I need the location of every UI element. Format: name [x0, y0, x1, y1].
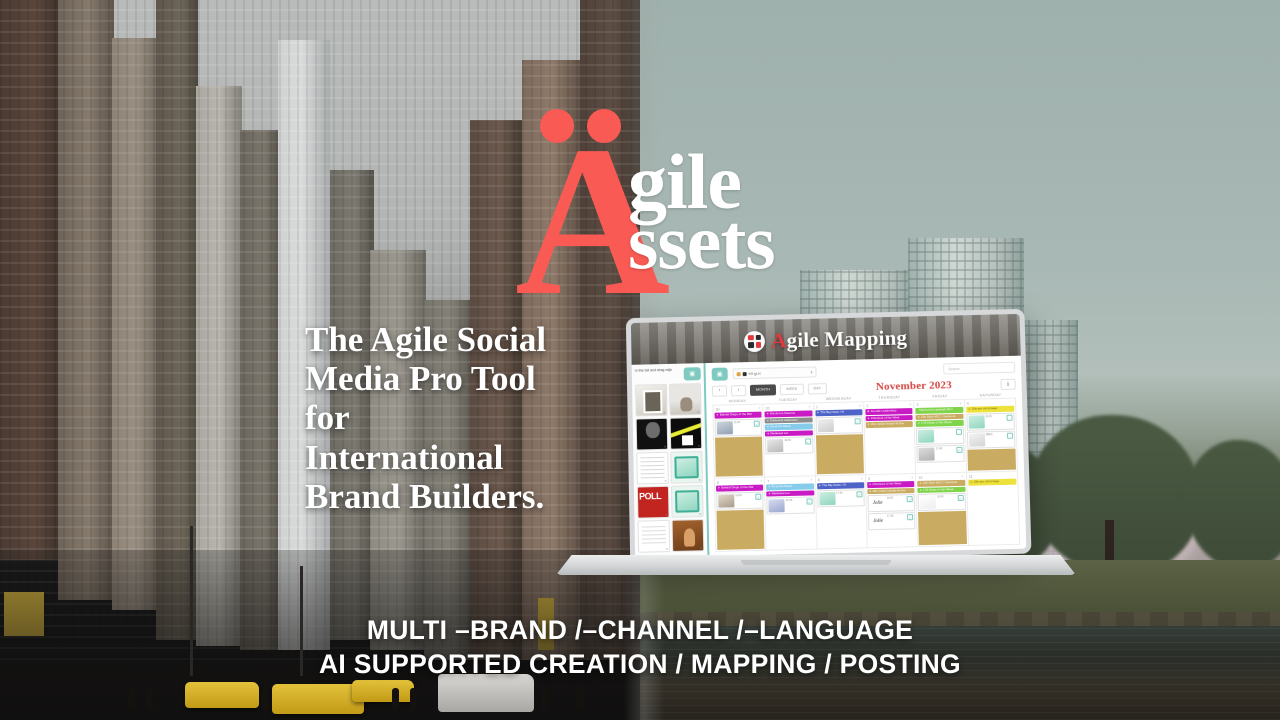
calendar-week-row: 6+●Bahdid Diego of the Mar10:00✓7+●Kit o…	[715, 472, 1019, 551]
post-preview-thumb	[968, 415, 984, 428]
event-type-icon: ●	[717, 413, 719, 419]
add-event-button[interactable]: +	[911, 475, 914, 480]
post-preview-thumb	[717, 421, 733, 434]
event-type-icon: ●	[817, 410, 819, 416]
day-fill-block	[918, 511, 966, 545]
remove-icon[interactable]: ×	[697, 409, 699, 414]
poster-canvas: A gile ssets The Agile Social Media Pro …	[0, 0, 1280, 720]
laptop-screen: Agile Mapping m the list and drag ndje ▣…	[631, 314, 1026, 558]
calendar-day-cell[interactable]: 11⚠20s pro mil lo'nego	[967, 472, 1019, 545]
event-type-icon: ●	[718, 486, 720, 492]
post-approved-checkbox[interactable]: ✓	[956, 446, 962, 452]
calendar-event-chip[interactable]: ⚠20s pro mil lo'nego	[966, 406, 1014, 413]
laptop-base	[556, 555, 1076, 575]
remove-icon[interactable]: ×	[663, 410, 665, 415]
upload-media-button[interactable]: ▣	[684, 367, 701, 380]
scheduled-post-card[interactable]	[916, 426, 964, 444]
remove-icon[interactable]: ×	[664, 444, 666, 449]
calendar-day-cell[interactable]: 31+●Dia de los Muertos●Dantoand Hallowee…	[764, 403, 816, 476]
post-preview-thumb	[817, 418, 833, 431]
event-type-icon: ●	[767, 424, 769, 430]
day-events: Races from aasioab MLC●20s Style MLC / I…	[915, 407, 966, 473]
scheduled-post-card[interactable]: ✓	[815, 416, 863, 434]
event-type-icon: ●	[819, 483, 821, 489]
day-number: 2	[866, 404, 868, 408]
media-thumbnail-grid: × × × × × × × × × ×	[632, 383, 707, 558]
post-time-label: 10:30	[784, 439, 803, 443]
event-label: Marketed Lot	[772, 490, 790, 496]
calendar-event-chip[interactable]: ●Bahdid Diego of the Mar	[715, 412, 762, 419]
tagline-line-2: AI SUPPORTED CREATION / MAPPING / POSTIN…	[0, 648, 1280, 682]
calendar-grid: 30+●Bahdid Diego of the Mar11:00✓31+●Dia…	[712, 398, 1020, 552]
event-type-icon: ●	[767, 411, 769, 417]
event-label: 20s Style MLC / Interwork	[923, 480, 958, 486]
event-label: 20s Style MLC / Interwork	[921, 414, 955, 420]
event-type-icon: ⚠	[968, 407, 971, 413]
calendar-event-chip[interactable]: ●20s Style MLC / Interwork	[918, 480, 966, 487]
calendar-event-chip[interactable]: ●20s medio l'amdo-vit line	[866, 421, 913, 428]
day-events: ■Female Leadership●Checkout of the West●…	[864, 408, 915, 474]
media-thumbnail[interactable]: ×	[670, 451, 703, 484]
calendar-day-cell[interactable]: 4⚠20s pro mil lo'nego00:45BBEC	[965, 399, 1017, 472]
scheduled-post-card[interactable]: 11:00✓	[715, 418, 763, 436]
post-time-label: 17:45	[887, 514, 906, 518]
event-type-icon: ●	[767, 431, 769, 437]
calendar-day-cell[interactable]: 2+■Female Leadership●Checkout of the Wes…	[864, 401, 916, 474]
post-approved-checkbox[interactable]: ✓	[855, 418, 861, 424]
calendar-event-chip[interactable]: ■Female Leadership	[865, 408, 912, 415]
download-button[interactable]: ⤓	[1000, 378, 1015, 389]
event-type-icon: ■	[867, 409, 869, 415]
event-label: Bahdid Diego of the Mar	[721, 485, 754, 491]
taxi	[352, 680, 414, 702]
event-label: Marketed Lot	[770, 430, 788, 436]
tagline: MULTI –BRAND /–CHANNEL /–LANGUAGE AI SUP…	[0, 614, 1280, 682]
remove-icon[interactable]: ×	[699, 511, 701, 516]
event-label: Kit at the Week	[770, 424, 790, 430]
calendar-event-chip[interactable]: ●20s medio l'amdo-vit line	[867, 488, 915, 495]
remove-icon[interactable]: ×	[666, 546, 668, 551]
post-approved-checkbox[interactable]: ✓	[957, 495, 963, 501]
post-time-label: 10:00	[937, 495, 956, 499]
scheduled-post-card[interactable]: Jolie17:45✓	[868, 512, 916, 530]
scheduled-post-card[interactable]: 17:45✓	[817, 489, 865, 507]
taxi	[272, 684, 364, 714]
post-preview-thumb	[920, 496, 936, 509]
calendar-event-chip[interactable]: ●Checkout of the West	[866, 415, 913, 422]
brand-logo: A gile ssets	[505, 95, 835, 280]
calendar-event-chip[interactable]: ●Kit of the Week	[766, 483, 814, 490]
remove-icon[interactable]: ×	[664, 478, 666, 483]
scheduled-post-card[interactable]: 10:15✓	[767, 496, 815, 514]
calendar-event-chip[interactable]: ●Marketed Lot	[765, 430, 812, 437]
laptop-hinge-notch	[741, 560, 891, 565]
calendar-week-row: 30+●Bahdid Diego of the Mar11:00✓31+●Dia…	[713, 399, 1017, 479]
day-events: ●The Big News / AI✓	[814, 409, 865, 475]
day-number: 30	[715, 407, 719, 411]
calendar-day-cell[interactable]: 8+●The Big News / AI17:45✓	[816, 475, 868, 548]
calendar-day-cell[interactable]: 7+●Kit of the Week●Marketed Lot10:15✓	[765, 476, 817, 549]
add-event-button[interactable]: +	[808, 404, 811, 409]
event-label: Dantoand Halloween	[770, 417, 798, 423]
event-type-icon: ●	[868, 422, 870, 428]
add-event-button[interactable]: +	[959, 401, 962, 406]
calendar-day-cell[interactable]: 30+●Bahdid Diego of the Mar11:00✓	[713, 405, 765, 478]
new-post-button[interactable]: ▣	[712, 368, 728, 381]
sidebar-hint-text: m the list and drag ndje	[635, 368, 681, 374]
post-approved-checkbox[interactable]	[956, 428, 962, 434]
day-events: ●Bahdid Diego of the Mar10:00✓	[715, 485, 766, 551]
post-preview-thumb: Jolie	[870, 515, 886, 528]
media-thumbnail[interactable]: ×	[636, 452, 669, 485]
calendar-event-chip[interactable]: ●Marketed Lot	[767, 490, 815, 497]
media-thumbnail[interactable]: ×	[638, 520, 671, 553]
media-thumbnail[interactable]: ×	[672, 519, 705, 552]
chevron-left-icon: ‹	[719, 388, 721, 394]
calendar-event-chip[interactable]: ●Checkout of the West	[867, 481, 915, 488]
post-approved-checkbox[interactable]: ✓	[806, 498, 812, 504]
calendar-event-chip[interactable]: ●178 Diego of the Week	[918, 486, 966, 493]
event-label: The Big News / AI	[820, 410, 844, 416]
remove-icon[interactable]: ×	[665, 512, 667, 517]
scheduled-post-card[interactable]: 00:45	[966, 412, 1015, 430]
scheduled-post-card[interactable]: 10:00✓	[716, 491, 764, 509]
scheduled-post-card[interactable]: BBEC	[967, 430, 1016, 448]
remove-icon[interactable]: ×	[698, 477, 700, 482]
event-label: Races from aasioab MLC	[919, 407, 953, 413]
add-event-button[interactable]: +	[760, 479, 763, 484]
app-title: Agile Mapping	[771, 325, 907, 353]
media-thumbnail[interactable]: ×	[671, 485, 704, 518]
post-approved-checkbox[interactable]: ✓	[856, 491, 862, 497]
post-approved-checkbox[interactable]	[1006, 414, 1012, 420]
event-type-icon: ●	[869, 489, 871, 495]
day-events: ●Kit of the Week●Marketed Lot10:15✓	[765, 483, 816, 549]
media-thumbnail[interactable]: ×	[669, 383, 702, 416]
scheduled-post-card[interactable]: 17:45✓	[917, 444, 965, 462]
app-title-rest: gile Mapping	[786, 325, 907, 352]
day-number: 6	[717, 480, 719, 484]
post-time-label: 00:45	[985, 414, 1005, 418]
brand-color-icon	[737, 372, 741, 376]
day-number: 11	[969, 474, 973, 478]
calendar-event-chip[interactable]: Races from aasioab MLC	[916, 407, 963, 414]
event-type-icon: ●	[868, 416, 870, 422]
media-thumbnail[interactable]: ×	[635, 384, 668, 417]
calendar-event-chip[interactable]: ●178 Diego of the Week	[916, 420, 963, 427]
post-time-label: 11:00	[734, 420, 753, 424]
search-input[interactable]: Search	[943, 362, 1015, 375]
media-sidebar: m the list and drag ndje ▣ × × × × × ×	[632, 363, 710, 558]
day-number: 31	[766, 406, 770, 410]
calendar-event-chip[interactable]: ●Dantoand Halloween	[765, 417, 812, 424]
scheduled-post-card[interactable]: Jolie10:50✓	[867, 494, 915, 512]
calendar-day-cell[interactable]: 6+●Bahdid Diego of the Mar10:00✓	[715, 478, 767, 551]
add-event-button[interactable]: +	[810, 477, 813, 482]
day-number: 4	[967, 401, 969, 405]
day-number: 1	[816, 405, 818, 409]
calendar-day-cell[interactable]: 3+Races from aasioab MLC●20s Style MLC /…	[914, 400, 966, 473]
sidebar-header: m the list and drag ndje ▣	[632, 363, 704, 385]
calendar-event-chip[interactable]: ●Dia de los Muertos	[765, 410, 812, 417]
day-number: 9	[868, 477, 870, 481]
add-event-button[interactable]: +	[758, 406, 761, 411]
post-preview-thumb	[767, 439, 783, 452]
event-type-icon: ⚠	[970, 480, 973, 486]
brand-color-icon-2	[743, 372, 747, 376]
event-type-icon: ●	[869, 482, 871, 488]
day-events: ⚠20s pro mil lo'nego00:45BBEC	[965, 406, 1017, 472]
event-label: 20s medio l'amdo-vit line	[871, 421, 904, 427]
day-number: 8	[818, 478, 820, 482]
app-logo-icon	[744, 330, 765, 351]
event-label: 178 Diego of the Week	[921, 420, 952, 426]
calendar-day-cell[interactable]: 9+●Checkout of the West●20s medio l'amdo…	[866, 474, 918, 547]
calendar-day-cell[interactable]: 10+●20s Style MLC / Interwork●178 Diego …	[916, 473, 968, 546]
post-time-label: 10:15	[786, 499, 805, 503]
calendar-panel: ▣ K9 gLH ▾ Search	[705, 356, 1026, 556]
event-type-icon: ●	[769, 491, 771, 497]
event-label: Female Leadership	[871, 408, 897, 414]
month-title: November 2023	[831, 378, 997, 394]
post-time-label: 10:50	[887, 496, 906, 500]
prev-month-button[interactable]: ‹	[712, 385, 727, 396]
event-type-icon: ●	[767, 418, 769, 424]
brand-selector[interactable]: K9 gLH ▾	[733, 366, 817, 379]
event-type-icon: ●	[768, 484, 770, 490]
day-events: ●Dia de los Muertos●Dantoand Halloween●K…	[764, 410, 815, 476]
media-thumbnail[interactable]: ×	[637, 486, 670, 519]
day-events: ●Checkout of the West●20s medio l'amdo-v…	[866, 481, 917, 547]
post-approved-checkbox[interactable]	[1007, 432, 1013, 438]
scheduled-post-card[interactable]: 10:30✓	[765, 436, 813, 454]
laptop-mockup: Agile Mapping m the list and drag ndje ▣…	[556, 313, 1076, 598]
add-event-button[interactable]: +	[860, 476, 863, 481]
event-label: Kit of the Week	[772, 484, 792, 490]
add-event-button[interactable]: +	[961, 474, 964, 479]
post-approved-checkbox[interactable]: ✓	[907, 514, 913, 520]
event-label: Bahdid Diego of the Mar	[720, 412, 752, 418]
tagline-line-1: MULTI –BRAND /–CHANNEL /–LANGUAGE	[0, 614, 1280, 648]
calendar-day-cell[interactable]: 1+●The Big News / AI✓	[814, 402, 866, 475]
post-time-label: 10:00	[735, 493, 754, 497]
upload-icon: ▣	[689, 370, 695, 377]
post-time-label: 17:45	[836, 491, 855, 495]
post-time-label: 17:45	[936, 447, 955, 451]
event-label: 20s pro mil lo'nego	[972, 406, 997, 412]
post-preview-thumb	[919, 447, 935, 460]
event-label: 178 Diego of the Week	[923, 487, 954, 493]
event-type-icon: ●	[920, 481, 922, 487]
day-fill-block	[816, 434, 864, 475]
day-fill-block	[716, 509, 764, 550]
event-label: Checkout of the West	[871, 415, 900, 421]
day-fill-block	[967, 448, 1016, 471]
remove-icon[interactable]: ×	[698, 443, 700, 448]
event-label: 20s medio l'amdo-vit line	[873, 488, 906, 494]
logo-word-ssets: ssets	[628, 203, 775, 281]
calendar-event-chip[interactable]: ●Bahdid Diego of the Mar	[716, 485, 764, 492]
day-events: ●20s Style MLC / Interwork●178 Diego of …	[917, 480, 968, 546]
media-thumbnail[interactable]: ×	[670, 417, 703, 450]
post-preview-thumb	[769, 499, 785, 512]
chevron-right-icon: ›	[738, 387, 740, 393]
event-label: The Big News / AI	[822, 483, 846, 489]
day-number: 3	[916, 402, 918, 406]
post-preview-thumb	[718, 494, 734, 507]
event-type-icon: ●	[918, 414, 920, 420]
post-time-label: BBEC	[986, 432, 1006, 436]
app-title-initial: A	[771, 328, 787, 352]
taxi	[185, 682, 259, 708]
scheduled-post-card[interactable]: 10:00✓	[918, 493, 966, 511]
add-event-button[interactable]: +	[909, 402, 912, 407]
search-placeholder: Search	[948, 367, 959, 371]
calendar-event-chip[interactable]: ●The Big News / AI	[817, 482, 865, 489]
post-approved-checkbox[interactable]: ✓	[805, 438, 811, 444]
laptop-lid: Agile Mapping m the list and drag ndje ▣…	[626, 309, 1032, 563]
view-month-button[interactable]: MONTH	[750, 384, 776, 396]
remove-icon[interactable]: ×	[700, 545, 702, 550]
chevron-down-icon: ▾	[810, 370, 812, 375]
download-icon: ⤓	[1007, 381, 1009, 387]
post-preview-thumb	[819, 491, 835, 504]
event-label: Dia de los Muertos	[770, 411, 795, 417]
day-events: ⚠20s pro mil lo'nego	[967, 479, 1019, 545]
view-day-button[interactable]: DAY	[807, 383, 827, 394]
post-approved-checkbox[interactable]: ✓	[756, 493, 762, 499]
day-events: ●Bahdid Diego of the Mar11:00✓	[714, 412, 765, 478]
new-post-icon: ▣	[717, 371, 723, 378]
day-number: 10	[918, 475, 922, 479]
day-fill-block	[715, 436, 763, 477]
day-number: 7	[767, 479, 769, 483]
calendar-event-chip[interactable]: ●The Big News / AI	[815, 409, 862, 416]
post-preview-thumb: Jolie	[870, 497, 886, 510]
media-thumbnail[interactable]: ×	[636, 418, 669, 451]
calendar-event-chip[interactable]: ●Kit at the Week	[765, 423, 812, 430]
add-event-button[interactable]: +	[859, 403, 862, 408]
event-type-icon: ●	[918, 421, 920, 427]
brand-selector-value: K9 gLH	[749, 370, 809, 375]
calendar-event-chip[interactable]: ⚠20s pro mil lo'nego	[968, 479, 1017, 486]
post-preview-thumb	[969, 433, 985, 446]
day-events: ●The Big News / AI17:45✓	[816, 482, 867, 548]
event-type-icon: ●	[920, 487, 922, 493]
view-week-button[interactable]: WEEK	[780, 383, 804, 395]
event-label: Checkout of the West	[872, 481, 901, 487]
next-month-button[interactable]: ›	[731, 385, 746, 396]
app-body: m the list and drag ndje ▣ × × × × × ×	[632, 356, 1027, 558]
post-approved-checkbox[interactable]: ✓	[907, 496, 913, 502]
calendar-event-chip[interactable]: ●20s Style MLC / Interwork	[916, 413, 963, 420]
event-label: 20s pro mil lo'nego	[974, 479, 999, 485]
post-preview-thumb	[918, 429, 934, 442]
post-approved-checkbox[interactable]: ✓	[754, 420, 760, 426]
